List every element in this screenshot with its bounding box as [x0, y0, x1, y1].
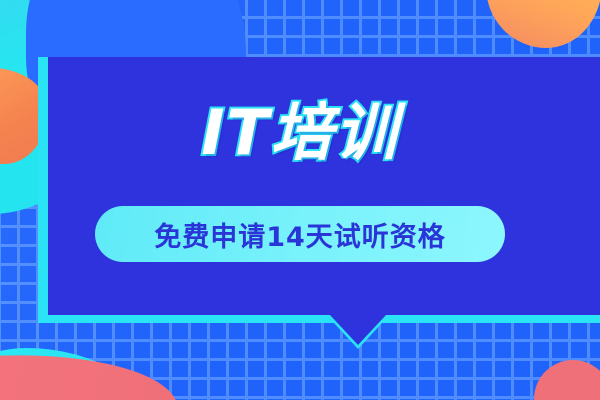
poster-headline-outline: IT培训	[0, 96, 600, 170]
free-trial-cta-label: 免费申请14天试听资格	[154, 215, 446, 254]
poster-canvas: IT培训 IT培训 免费申请14天试听资格	[0, 0, 600, 400]
speech-bubble-shape	[0, 0, 600, 400]
free-trial-cta-button[interactable]: 免费申请14天试听资格	[95, 206, 505, 262]
speech-bubble-card	[0, 0, 600, 400]
